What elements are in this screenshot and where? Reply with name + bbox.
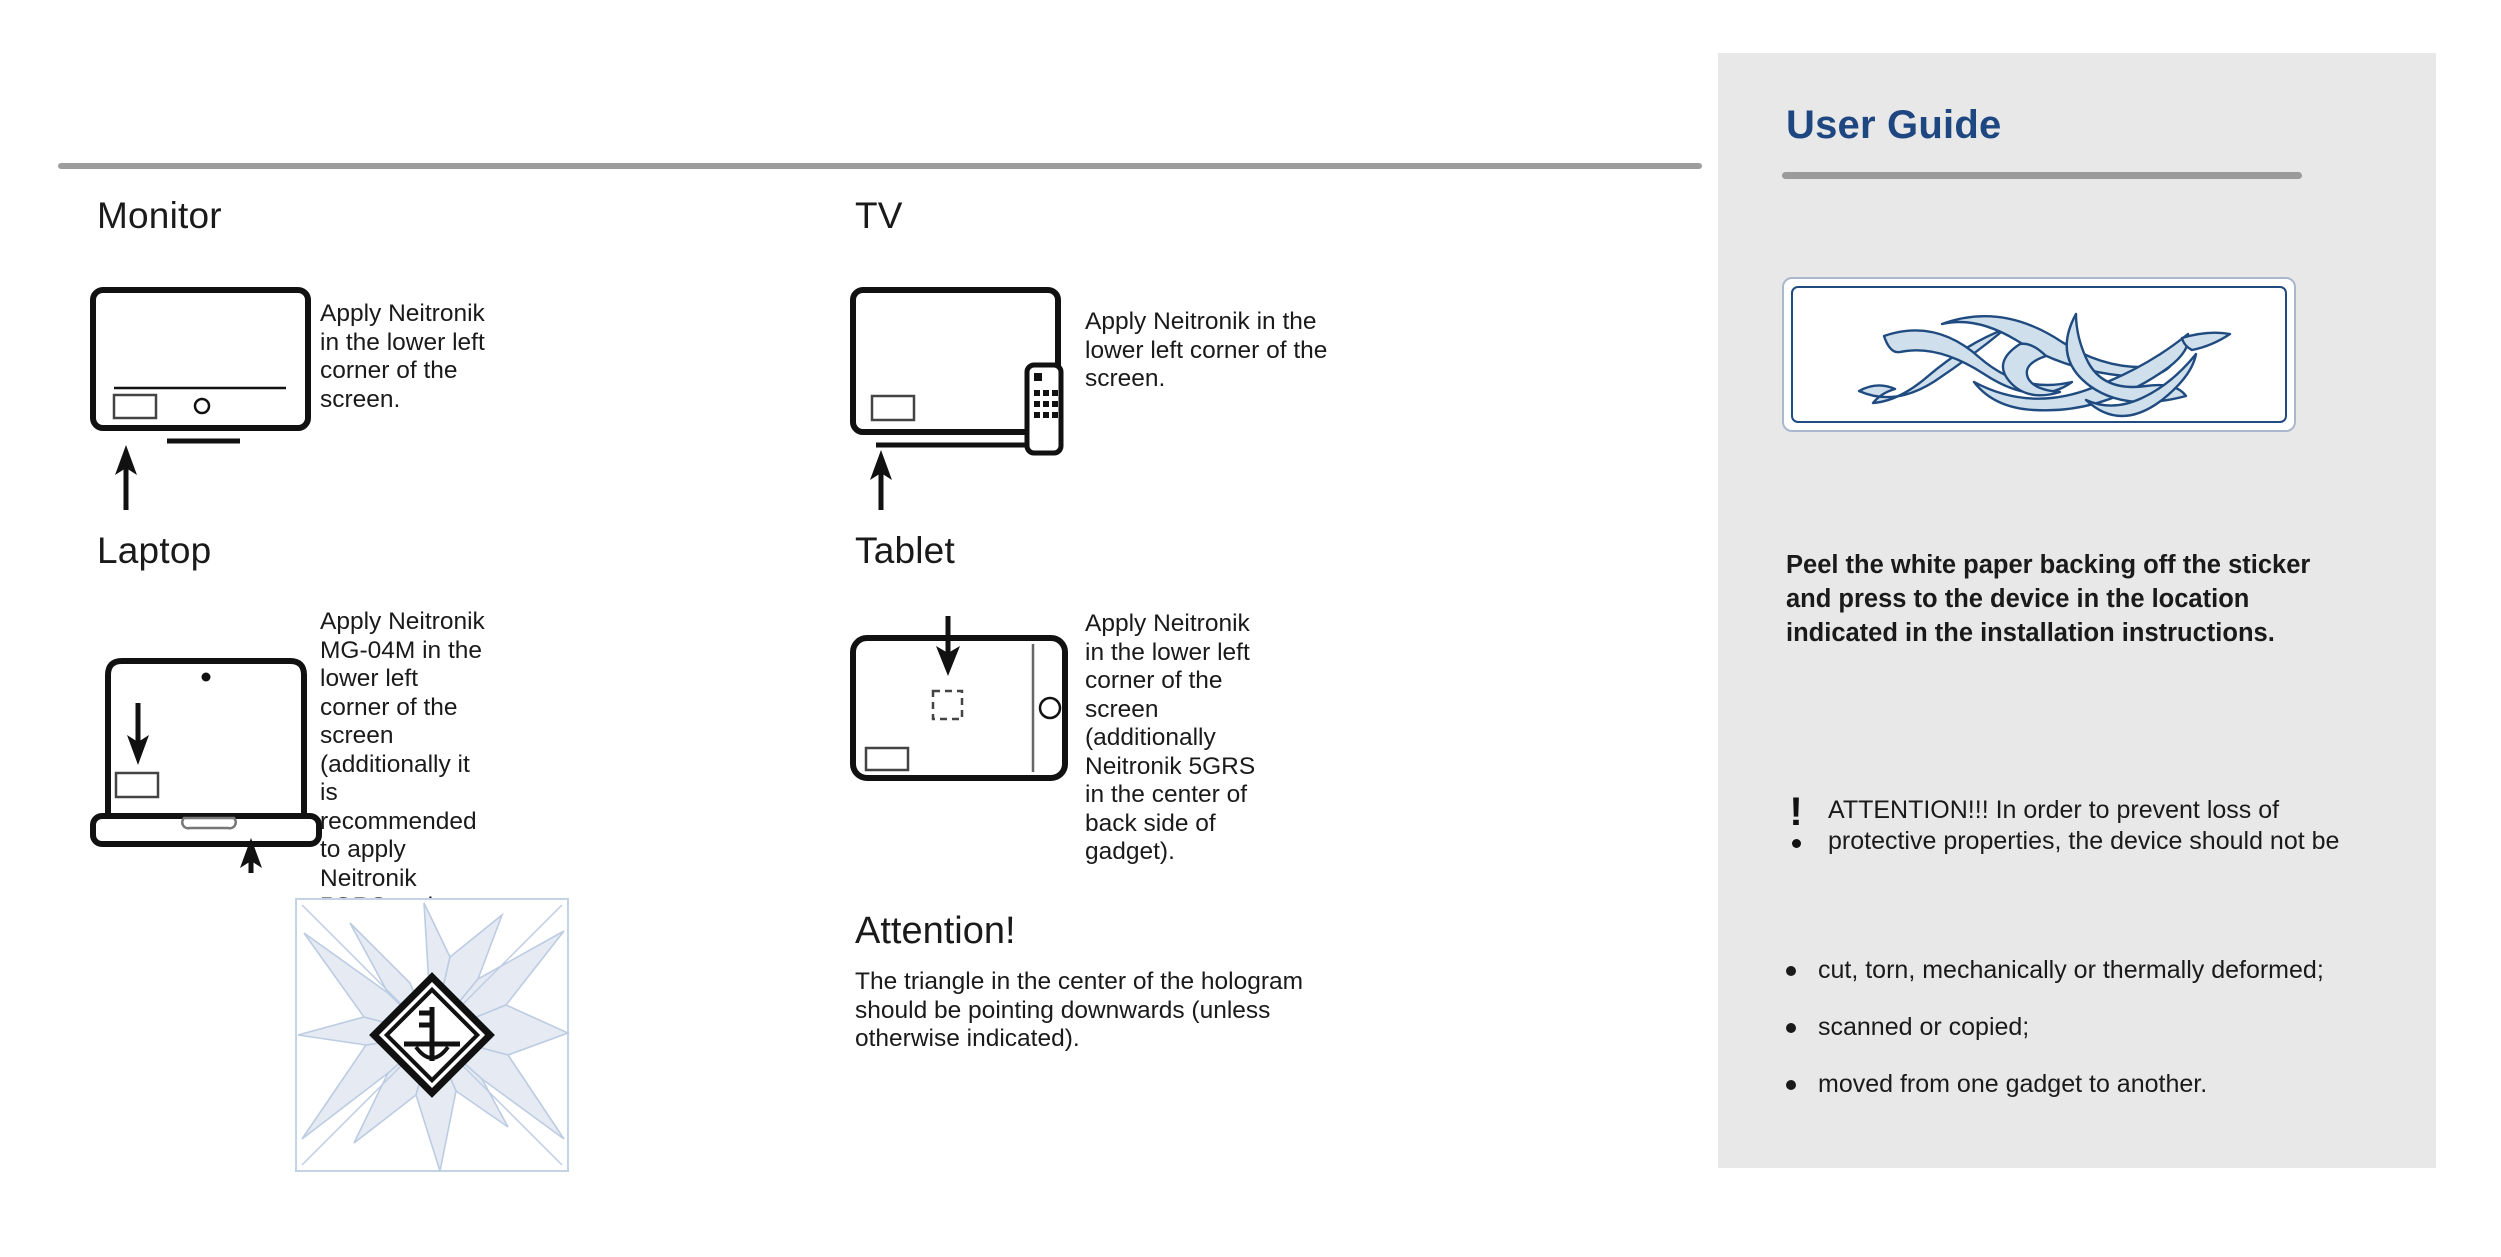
list-item-label: cut, torn, mechanically or thermally def… — [1818, 955, 2324, 986]
tv-icon — [848, 285, 1078, 515]
bullet-icon — [1786, 966, 1796, 976]
list-item: moved from one gadget to another. — [1786, 1069, 2366, 1100]
user-guide-title: User Guide — [1786, 103, 2001, 148]
list-item: scanned or copied; — [1786, 1012, 2366, 1043]
page-root: Monitor Apply Neitronik in the lower lef… — [0, 0, 2501, 1257]
guide-attention-row: ! ATTENTION!!! In order to prevent loss … — [1782, 795, 2342, 857]
section-title-monitor: Monitor — [97, 195, 222, 237]
instruction-tv: Apply Neitronik in the lower left corner… — [1085, 308, 1355, 394]
sticker-preview — [1782, 277, 2296, 432]
exclamation-dot — [1792, 839, 1801, 848]
user-guide-divider — [1782, 172, 2302, 179]
header-divider — [58, 163, 1702, 169]
list-item: cut, torn, mechanically or thermally def… — [1786, 955, 2366, 986]
exclamation-icon: ! — [1782, 795, 1810, 857]
sticker-inner-frame — [1791, 286, 2287, 423]
instruction-tablet: Apply Neitronik in the lower left corner… — [1085, 610, 1265, 867]
attention-body: The triangle in the center of the hologr… — [855, 968, 1355, 1054]
section-title-tv: TV — [855, 195, 903, 237]
hologram-star-icon — [292, 895, 572, 1175]
list-item-label: moved from one gadget to another. — [1818, 1069, 2207, 1100]
prohibited-list: cut, torn, mechanically or thermally def… — [1786, 955, 2366, 1126]
guide-attention-text: ATTENTION!!! In order to prevent loss of… — [1828, 795, 2342, 857]
bullet-icon — [1786, 1080, 1796, 1090]
instruction-monitor: Apply Neitronik in the lower left corner… — [320, 300, 490, 414]
celtic-knot-sticker-icon — [1824, 296, 2254, 414]
laptop-icon — [88, 625, 338, 875]
monitor-icon — [88, 285, 318, 515]
attention-heading: Attention! — [855, 910, 1016, 953]
section-title-laptop: Laptop — [97, 530, 211, 572]
section-title-tablet: Tablet — [855, 530, 955, 572]
tablet-icon — [848, 600, 1088, 820]
bullet-icon — [1786, 1023, 1796, 1033]
peel-instruction: Peel the white paper backing off the sti… — [1786, 548, 2326, 650]
list-item-label: scanned or copied; — [1818, 1012, 2029, 1043]
exclamation-bar: ! — [1789, 790, 1802, 834]
